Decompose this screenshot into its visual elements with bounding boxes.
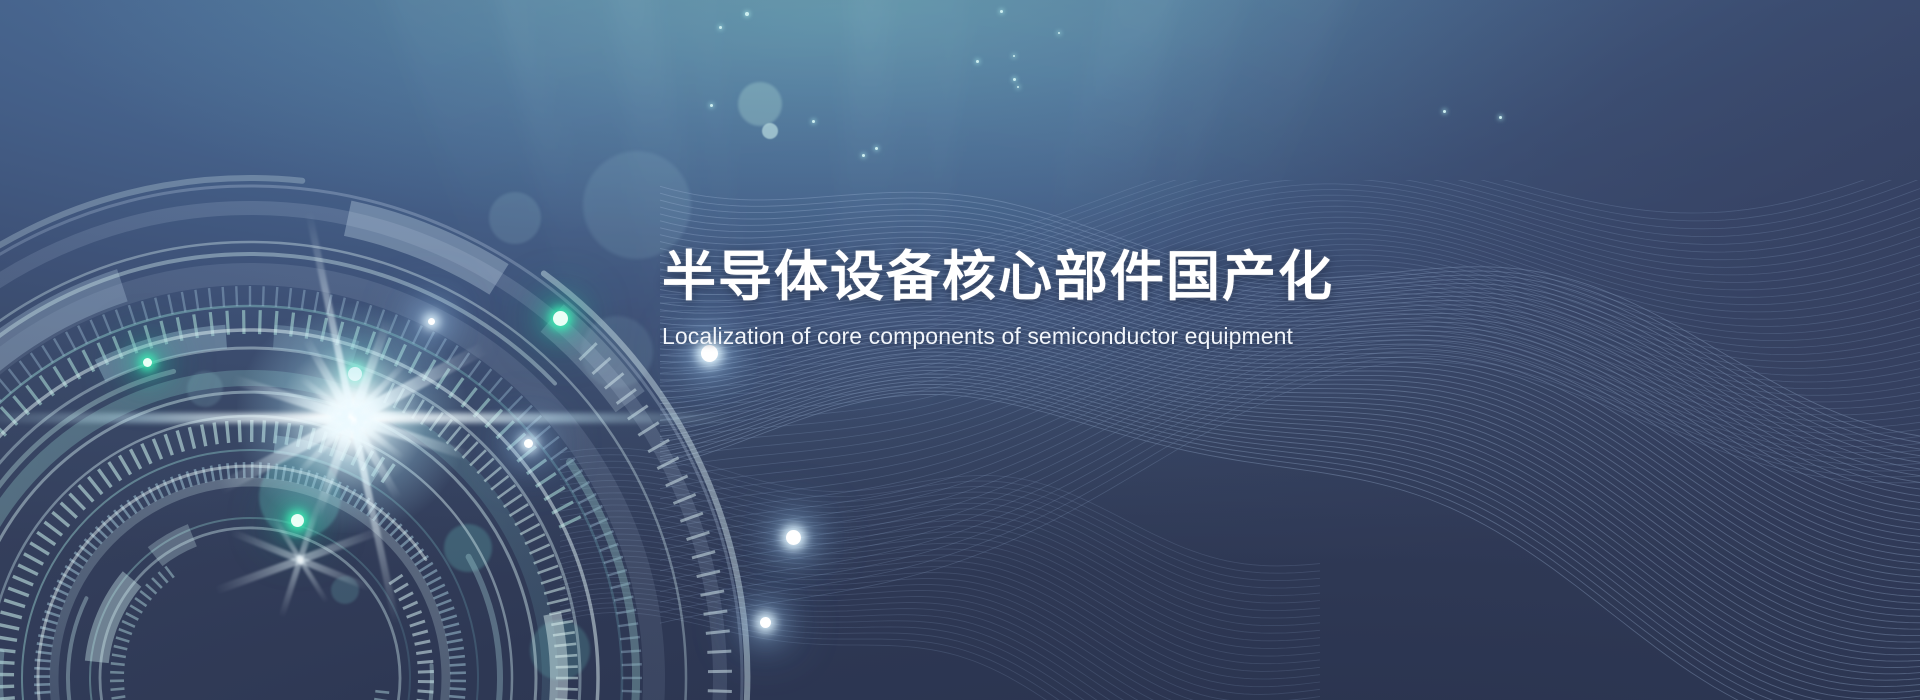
light-particle-icon (862, 154, 865, 157)
bokeh-circle-icon (738, 82, 782, 126)
light-particle-icon (875, 147, 878, 150)
light-particle-icon (1058, 32, 1060, 34)
light-particle-icon (1017, 86, 1019, 88)
page-subtitle: Localization of core components of semic… (662, 322, 1382, 351)
light-particle-icon (745, 12, 749, 16)
light-particle-icon (1443, 110, 1446, 113)
lens-flare-streak-icon (0, 413, 732, 423)
light-particle-icon (976, 60, 979, 63)
bokeh-circle-icon (762, 123, 778, 139)
light-particle-icon (1013, 78, 1016, 81)
page-title: 半导体设备核心部件国产化 (662, 248, 1382, 306)
light-particle-icon (1013, 55, 1015, 57)
light-particle-icon (1000, 10, 1003, 13)
light-particle-icon (710, 104, 713, 107)
banner-text-block: 半导体设备核心部件国产化 Localization of core compon… (662, 248, 1382, 351)
light-particle-icon (719, 26, 722, 29)
light-particle-icon (1499, 116, 1502, 119)
hero-banner: 半导体设备核心部件国产化 Localization of core compon… (0, 0, 1920, 700)
light-particle-icon (812, 120, 815, 123)
